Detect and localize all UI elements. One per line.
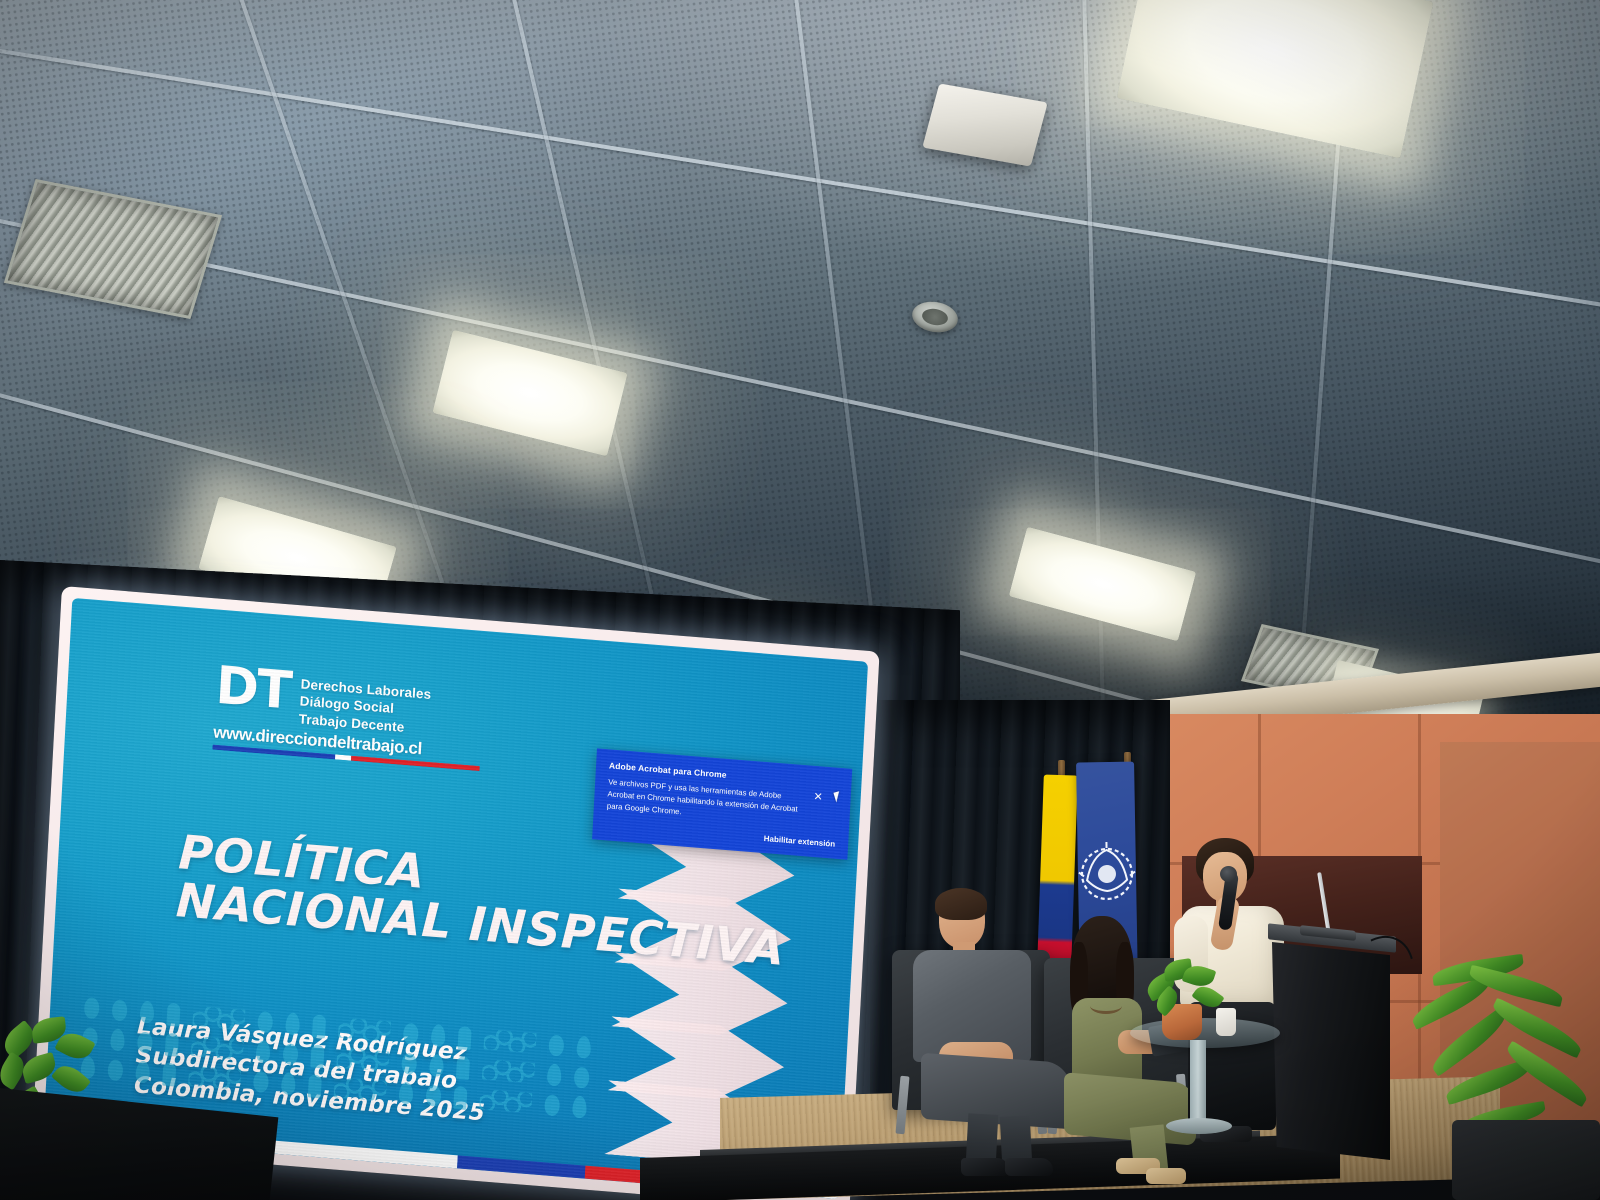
table-base <box>1166 1118 1232 1134</box>
mouse-cursor-icon <box>833 791 842 802</box>
dt-logo-mark: DT <box>215 664 292 714</box>
close-icon[interactable]: ✕ <box>813 792 823 804</box>
palm-planter <box>1452 1120 1600 1200</box>
presentation-photo-scene: DT Derechos Laborales Diálogo Social Tra… <box>0 0 1600 1200</box>
dt-logo: DT Derechos Laborales Diálogo Social Tra… <box>212 664 536 775</box>
table-pedestal <box>1190 1040 1206 1124</box>
popup-body: Ve archivos PDF y usa las herramientas d… <box>607 776 804 828</box>
paper-cup <box>1216 1008 1236 1036</box>
dt-logo-tagline: Derechos Laborales Diálogo Social Trabaj… <box>298 670 432 737</box>
slide-title-line2: NACIONAL INSPECTIVA <box>175 878 786 975</box>
